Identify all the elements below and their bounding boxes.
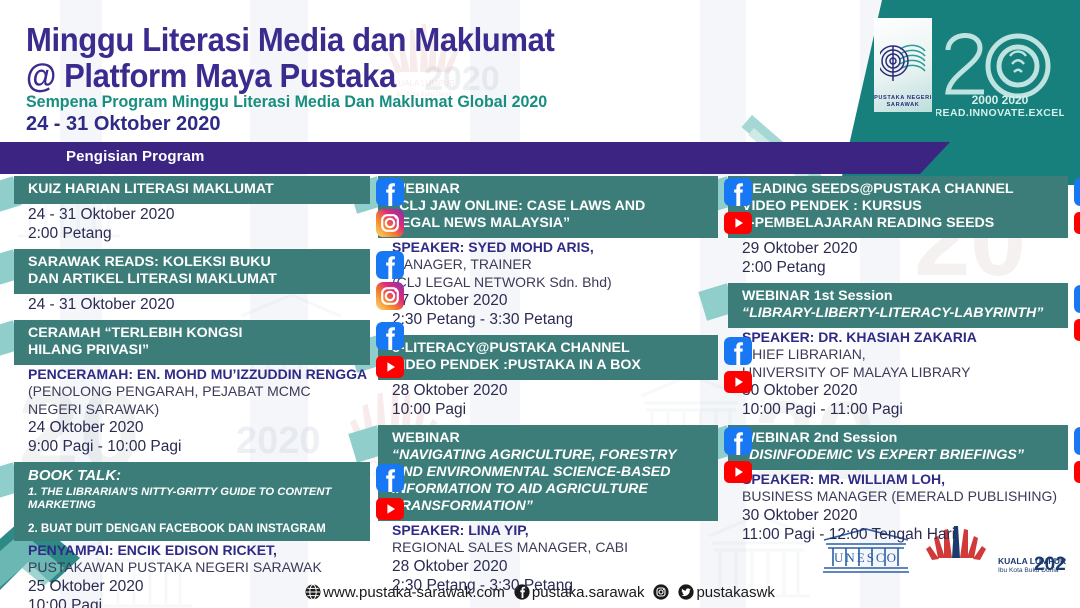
program-title-line: e-PEMBELAJARAN READING SEEDS xyxy=(742,215,1060,232)
section-bar: Pengisian Program xyxy=(0,142,950,174)
program-line-text: (PENOLONG PENGARAH, PEJABAT MCMC xyxy=(28,383,370,401)
program-title-line: “LIBRARY-LIBERTY-LITERACY-LABYRINTH” xyxy=(742,305,1060,322)
program-card: WEBINAR“NAVIGATING AGRICULTURE, FORESTRY… xyxy=(378,425,718,595)
program-speaker-text: PENCERAMAH: EN. MOHD MU’IZZUDDIN RENGGA xyxy=(28,366,370,383)
page-dates: 24 - 31 Oktober 2020 xyxy=(26,113,221,136)
program-card-body: PENCERAMAH: EN. MOHD MU’IZZUDDIN RENGGA(… xyxy=(14,365,370,456)
program-title-line: HILANG PRIVASI” xyxy=(28,342,362,359)
program-title-line: VIDEO PENDEK : KURSUS xyxy=(742,198,1060,215)
program-title-line: WEBINAR 1st Session xyxy=(742,288,1060,305)
program-card-body: SPEAKER: DR. KHASIAH ZAKARIACHIEF LIBRAR… xyxy=(728,328,1068,419)
program-title-line: 1. THE LIBRARIAN’S NITTY-GRITTY GUIDE TO… xyxy=(28,486,362,512)
program-title-line: WEBINAR 2nd Session xyxy=(742,430,1060,447)
youtube-icon[interactable] xyxy=(724,458,752,486)
program-card: WEBINAR 2nd Session“DISINFODEMIC VS EXPE… xyxy=(728,425,1068,544)
program-speaker-text: SPEAKER: SYED MOHD ARIS, xyxy=(392,239,718,256)
program-line-text: BUSINESS MANAGER (EMERALD PUBLISHING) xyxy=(742,488,1068,506)
program-column-2: WEBINAR“CLJ JAW ONLINE: CASE LAWS ANDLEG… xyxy=(378,176,718,578)
social-icon-group xyxy=(376,178,404,237)
program-speaker-text: PENYAMPAI: ENCIK EDISON RICKET, xyxy=(28,542,370,559)
program-title-line: DAN ARTIKEL LITERASI MAKLUMAT xyxy=(28,271,362,288)
program-date-text: 10:00 Pagi xyxy=(28,596,370,608)
program-date-text: 27 Oktober 2020 xyxy=(392,291,718,310)
pustaka-logo-label: PUSTAKA NEGERI SARAWAK xyxy=(874,95,932,108)
program-line-text: PUSTAKAWAN PUSTAKA NEGERI SARAWAK xyxy=(28,559,370,577)
program-card: WEBINAR 1st Session“LIBRARY-LIBERTY-LITE… xyxy=(728,283,1068,419)
program-line-text: UNIVERSITY OF MALAYA LIBRARY xyxy=(742,364,1068,382)
youtube-icon[interactable] xyxy=(724,368,752,396)
facebook-icon[interactable] xyxy=(724,337,752,365)
program-date-text: 24 - 31 Oktober 2020 xyxy=(28,205,370,224)
social-icon-group xyxy=(1074,178,1080,237)
program-date-text: 29 Oktober 2020 xyxy=(742,239,1068,258)
facebook-icon[interactable] xyxy=(1074,427,1080,455)
facebook-icon[interactable] xyxy=(376,251,404,279)
program-title-line: “NAVIGATING AGRICULTURE, FORESTRY xyxy=(392,447,710,464)
section-bar-label: Pengisian Program xyxy=(66,148,204,165)
instagram-icon[interactable] xyxy=(376,209,404,237)
facebook-icon[interactable] xyxy=(724,178,752,206)
program-date-text: 24 - 31 Oktober 2020 xyxy=(28,295,370,314)
instagram-icon[interactable] xyxy=(376,282,404,310)
facebook-icon[interactable] xyxy=(376,178,404,206)
program-date-text: 2:30 Petang - 3:30 Petang xyxy=(392,576,718,595)
facebook-icon[interactable] xyxy=(724,427,752,455)
program-title-line: WEBINAR xyxy=(392,181,710,198)
kl-year: 2020 xyxy=(1034,554,1066,575)
program-title-line: TRANSFORMATION” xyxy=(392,498,710,515)
program-card-body: PENYAMPAI: ENCIK EDISON RICKET,PUSTAKAWA… xyxy=(14,541,370,608)
program-card: e-LITERACY@PUSTAKA CHANNELVIDEO PENDEK :… xyxy=(378,335,718,419)
social-icon-group xyxy=(724,178,752,237)
title-line-1: Minggu Literasi Media dan Maklumat xyxy=(26,21,554,58)
program-date-text: 28 Oktober 2020 xyxy=(392,557,718,576)
social-icon-group xyxy=(1074,427,1080,486)
youtube-icon[interactable] xyxy=(724,209,752,237)
program-title-line: BOOK TALK: xyxy=(28,467,362,484)
program-line-text: REGIONAL SALES MANAGER, CABI xyxy=(392,539,718,557)
program-card: KUIZ HARIAN LITERASI MAKLUMAT24 - 31 Okt… xyxy=(14,176,370,243)
title-line-2: @ Platform Maya Pustaka xyxy=(26,58,554,94)
twentieth-anniversary-logo: 2000 2020 READ.INNOVATE.EXCEL xyxy=(936,22,1064,118)
program-title-line: AND ENVIRONMENTAL SCIENCE-BASED xyxy=(392,464,710,481)
social-icon-group xyxy=(376,464,404,523)
poster-canvas: KUALA LUMPUR Ibu Kota Buku Dunia KUALA L… xyxy=(0,0,1080,608)
poster-header: Minggu Literasi Media dan Maklumat @ Pla… xyxy=(0,0,1080,140)
program-title-line: VIDEO PENDEK :PUSTAKA IN A BOX xyxy=(392,357,710,374)
program-date-text: 10:00 Pagi - 11:00 Pagi xyxy=(742,400,1068,419)
pustaka-logo: PUSTAKA NEGERI SARAWAK xyxy=(874,18,932,112)
program-card: WEBINAR“CLJ JAW ONLINE: CASE LAWS ANDLEG… xyxy=(378,176,718,329)
program-card-body: SPEAKER: LINA YIP,REGIONAL SALES MANAGER… xyxy=(378,521,718,595)
program-card-title: KUIZ HARIAN LITERASI MAKLUMAT xyxy=(14,176,370,204)
program-title-line: LEGAL NEWS MALAYSIA” xyxy=(392,215,710,232)
program-date-text: 11:00 Pagi - 12:00 Tengah Hari xyxy=(742,525,1068,544)
program-title-line: KUIZ HARIAN LITERASI MAKLUMAT xyxy=(28,181,362,198)
program-line-text: CHIEF LIBRARIAN, xyxy=(742,346,1068,364)
program-title-line: SARAWAK READS: KOLEKSI BUKU xyxy=(28,254,362,271)
program-date-text: 2:00 Petang xyxy=(742,258,1068,277)
program-card: READING SEEDS@PUSTAKA CHANNELVIDEO PENDE… xyxy=(728,176,1068,277)
program-title-line: READING SEEDS@PUSTAKA CHANNEL xyxy=(742,181,1060,198)
pustaka-swirl-icon xyxy=(880,37,926,95)
program-card: CERAMAH “TERLEBIH KONGSIHILANG PRIVASI”P… xyxy=(14,320,370,456)
program-date-text: 2:30 Petang - 3:30 Petang xyxy=(392,310,718,329)
program-card-title: e-LITERACY@PUSTAKA CHANNELVIDEO PENDEK :… xyxy=(378,335,718,380)
program-title-line: e-LITERACY@PUSTAKA CHANNEL xyxy=(392,340,710,357)
facebook-icon[interactable] xyxy=(376,322,404,350)
youtube-icon[interactable] xyxy=(376,353,404,381)
program-line-text: MANAGER, TRAINER xyxy=(392,256,718,274)
social-icon-group xyxy=(1074,285,1080,344)
program-card-body: 28 Oktober 202010:00 Pagi xyxy=(378,380,718,419)
social-icon-group xyxy=(376,322,404,381)
program-speaker-text: SPEAKER: LINA YIP, xyxy=(392,522,718,539)
program-column-1: KUIZ HARIAN LITERASI MAKLUMAT24 - 31 Okt… xyxy=(14,176,370,578)
program-title-line: “DISINFODEMIC VS EXPERT BRIEFINGS” xyxy=(742,447,1060,464)
program-card: SARAWAK READS: KOLEKSI BUKUDAN ARTIKEL L… xyxy=(14,249,370,314)
youtube-icon[interactable] xyxy=(1074,209,1080,237)
program-date-text: 9:00 Pagi - 10:00 Pagi xyxy=(28,437,370,456)
program-content: KUIZ HARIAN LITERASI MAKLUMAT24 - 31 Okt… xyxy=(0,176,1080,578)
program-title-line: WEBINAR xyxy=(392,430,710,447)
facebook-icon[interactable] xyxy=(376,464,404,492)
facebook-icon[interactable] xyxy=(1074,285,1080,313)
program-speaker-text: SPEAKER: MR. WILLIAM LOH, xyxy=(742,471,1068,488)
logo-years: 2000 2020 xyxy=(972,93,1029,107)
program-date-text: 25 Oktober 2020 xyxy=(28,577,370,596)
program-card-title: READING SEEDS@PUSTAKA CHANNELVIDEO PENDE… xyxy=(728,176,1068,238)
social-icon-group xyxy=(724,337,752,396)
page-subtitle: Sempena Program Minggu Literasi Media Da… xyxy=(26,93,547,112)
youtube-icon[interactable] xyxy=(1074,316,1080,344)
program-card-title: WEBINAR“NAVIGATING AGRICULTURE, FORESTRY… xyxy=(378,425,718,521)
unesco-label: UNESCO xyxy=(834,550,898,565)
program-card-title: BOOK TALK:1. THE LIBRARIAN’S NITTY-GRITT… xyxy=(14,462,370,541)
program-date-text: 24 Oktober 2020 xyxy=(28,418,370,437)
program-column-3: READING SEEDS@PUSTAKA CHANNELVIDEO PENDE… xyxy=(728,176,1068,578)
program-title-line: CERAMAH “TERLEBIH KONGSI xyxy=(28,325,362,342)
page-title: Minggu Literasi Media dan Maklumat @ Pla… xyxy=(26,22,554,94)
facebook-icon[interactable] xyxy=(1074,178,1080,206)
program-speaker-text: SPEAKER: DR. KHASIAH ZAKARIA xyxy=(742,329,1068,346)
program-card: BOOK TALK:1. THE LIBRARIAN’S NITTY-GRITT… xyxy=(14,462,370,608)
program-card-body: SPEAKER: SYED MOHD ARIS,MANAGER, TRAINER… xyxy=(378,238,718,329)
program-card-title: WEBINAR“CLJ JAW ONLINE: CASE LAWS ANDLEG… xyxy=(378,176,718,238)
program-line-text: NEGERI SARAWAK) xyxy=(28,401,370,419)
program-date-text: 28 Oktober 2020 xyxy=(392,381,718,400)
program-line-text: (CLJ LEGAL NETWORK Sdn. Bhd) xyxy=(392,274,718,292)
program-card-body: 24 - 31 Oktober 20202:00 Petang xyxy=(14,204,370,243)
program-card-body: 24 - 31 Oktober 2020 xyxy=(14,294,370,314)
youtube-icon[interactable] xyxy=(376,495,404,523)
program-date-text: 2:00 Petang xyxy=(28,224,370,243)
social-icon-group xyxy=(376,251,404,310)
program-date-text: 10:00 Pagi xyxy=(392,400,718,419)
program-card-title: SARAWAK READS: KOLEKSI BUKUDAN ARTIKEL L… xyxy=(14,249,370,294)
program-card-title: WEBINAR 2nd Session“DISINFODEMIC VS EXPE… xyxy=(728,425,1068,470)
program-card-body: 29 Oktober 20202:00 Petang xyxy=(728,238,1068,277)
program-date-text: 30 Oktober 2020 xyxy=(742,381,1068,400)
program-card-title: CERAMAH “TERLEBIH KONGSIHILANG PRIVASI” xyxy=(14,320,370,365)
program-card-body: SPEAKER: MR. WILLIAM LOH,BUSINESS MANAGE… xyxy=(728,470,1068,544)
youtube-icon[interactable] xyxy=(1074,458,1080,486)
program-card-title: WEBINAR 1st Session“LIBRARY-LIBERTY-LITE… xyxy=(728,283,1068,328)
social-icon-group xyxy=(724,427,752,486)
program-title-line: 2. BUAT DUIT DENGAN FACEBOOK DAN INSTAGR… xyxy=(28,522,362,535)
program-title-line: INFORMATION TO AID AGRICULTURE xyxy=(392,481,710,498)
logo-tagline: READ.INNOVATE.EXCEL xyxy=(936,107,1064,118)
program-title-line: “CLJ JAW ONLINE: CASE LAWS AND xyxy=(392,198,710,215)
program-date-text: 30 Oktober 2020 xyxy=(742,506,1068,525)
